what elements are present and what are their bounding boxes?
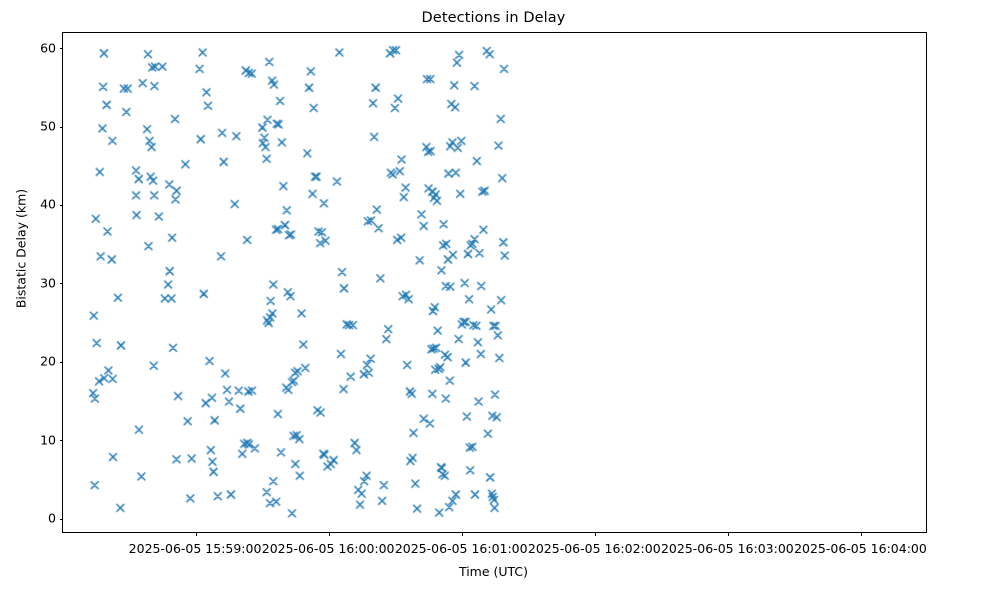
y-tick-label: 60: [0, 40, 56, 55]
x-tick-mark: [595, 532, 596, 536]
y-tick-label: 50: [0, 119, 56, 134]
y-tick-label: 20: [0, 354, 56, 369]
x-axis-label: Time (UTC): [0, 564, 987, 579]
y-tick-label: 30: [0, 275, 56, 290]
x-tick-mark: [329, 532, 330, 536]
y-tick-label: 40: [0, 197, 56, 212]
x-tick-mark: [196, 532, 197, 536]
x-tick-mark: [462, 532, 463, 536]
x-tick-mark: [861, 532, 862, 536]
y-tick-label: 0: [0, 511, 56, 526]
matplotlib-figure: Detections in Delay Bistatic Delay (km) …: [0, 0, 987, 590]
chart-title: Detections in Delay: [0, 10, 987, 26]
scatter-points-canvas: [63, 33, 926, 532]
x-tick-mark: [728, 532, 729, 536]
y-tick-label: 10: [0, 432, 56, 447]
x-tick-label: 2025-06-05 16:04:00: [750, 541, 970, 556]
plot-area: [62, 32, 927, 533]
y-axis-label: Bistatic Delay (km): [14, 49, 29, 449]
